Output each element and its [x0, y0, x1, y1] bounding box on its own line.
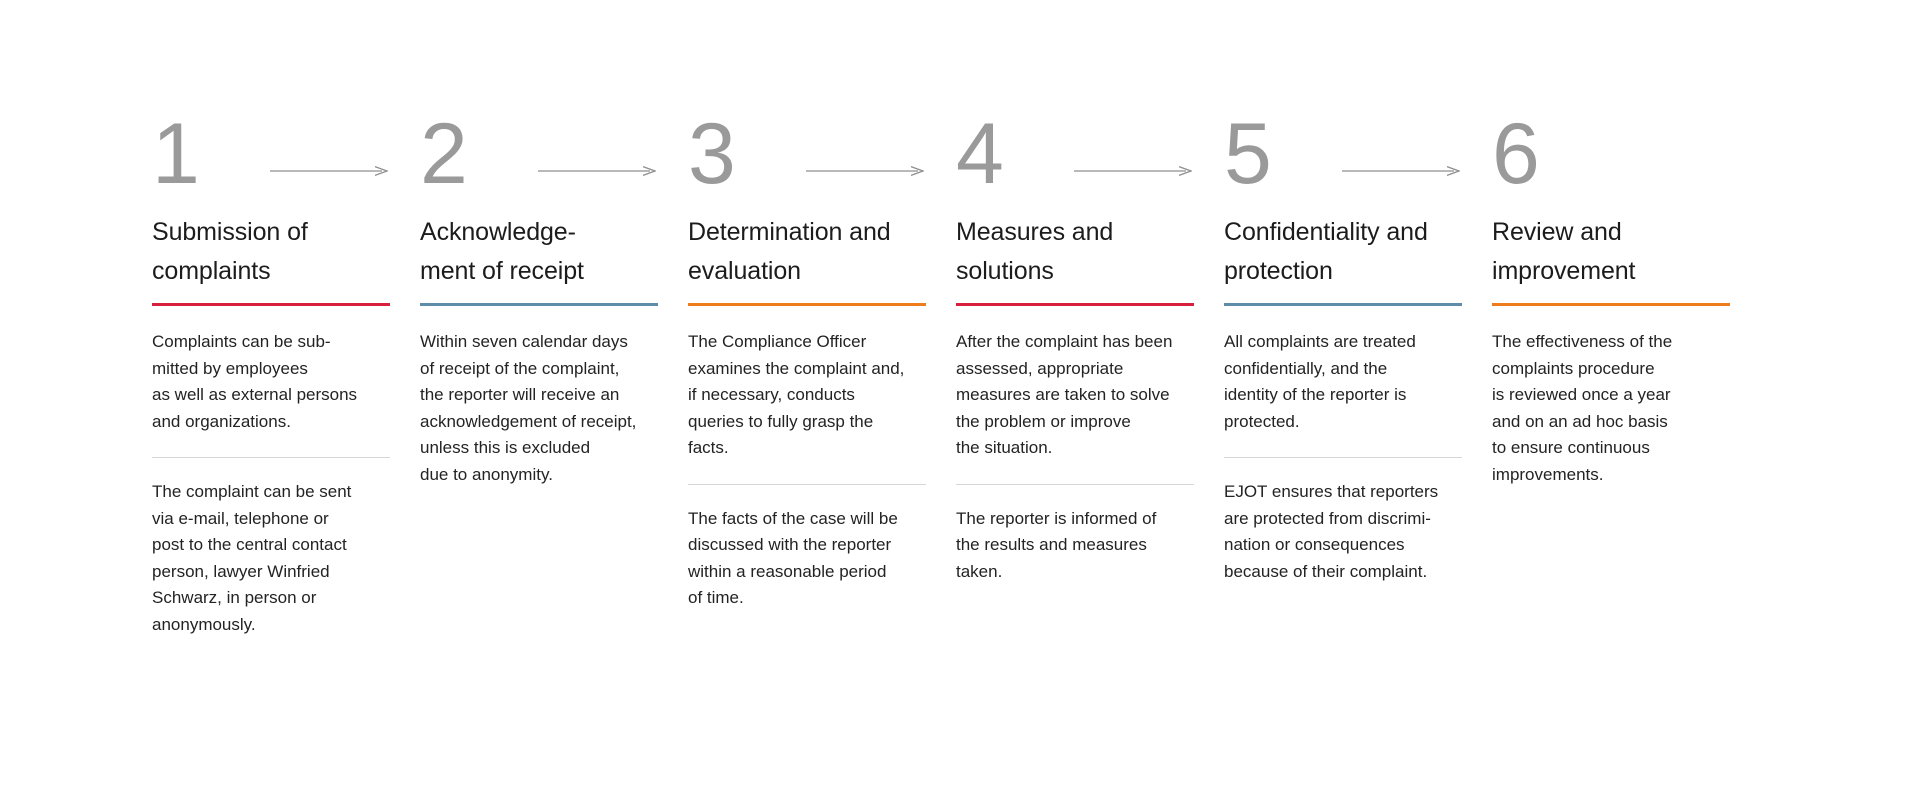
step-body: Complaints can be sub- mitted by employe…	[152, 329, 382, 638]
step-accent-rule-orange	[688, 303, 926, 306]
step-head: 3	[688, 95, 918, 195]
arrow-right-icon	[806, 165, 924, 177]
step-accent-rule-orange	[1492, 303, 1730, 306]
step-number: 5	[1224, 111, 1272, 197]
arrow-right-icon	[538, 165, 656, 177]
arrow-right-icon	[1074, 165, 1192, 177]
step-body: Within seven calendar days of receipt of…	[420, 329, 650, 488]
arrow-right-icon	[270, 165, 388, 177]
step-head: 6	[1492, 95, 1722, 195]
step-number: 1	[152, 111, 200, 197]
step-paragraph: The effectiveness of the complaints proc…	[1492, 329, 1722, 488]
step-title: Acknowledge- ment of receipt	[420, 213, 650, 291]
process-step-1: 1Submission of complaintsComplaints can …	[152, 95, 420, 638]
step-body: The Compliance Officer examines the comp…	[688, 329, 918, 612]
step-accent-rule-red	[956, 303, 1194, 306]
step-title: Measures and solutions	[956, 213, 1186, 291]
step-accent-rule-red	[152, 303, 390, 306]
step-number: 3	[688, 111, 736, 197]
step-head: 4	[956, 95, 1186, 195]
step-head: 2	[420, 95, 650, 195]
step-paragraph: EJOT ensures that reporters are protecte…	[1224, 479, 1454, 585]
process-step-2: 2Acknowledge- ment of receiptWithin seve…	[420, 95, 688, 488]
step-paragraph: The complaint can be sent via e-mail, te…	[152, 479, 382, 638]
process-step-6: 6Review and improvementThe effectiveness…	[1492, 95, 1760, 488]
step-accent-rule-blue	[420, 303, 658, 306]
step-paragraph: Complaints can be sub- mitted by employe…	[152, 329, 382, 435]
step-paragraph: All complaints are treated confidentiall…	[1224, 329, 1454, 435]
step-title: Submission of complaints	[152, 213, 382, 291]
process-step-4: 4Measures and solutionsAfter the complai…	[956, 95, 1224, 585]
step-title: Determination and evaluation	[688, 213, 918, 291]
process-step-5: 5Confidentiality and protectionAll compl…	[1224, 95, 1492, 585]
step-body: After the complaint has been assessed, a…	[956, 329, 1186, 585]
step-number: 2	[420, 111, 468, 197]
step-body: The effectiveness of the complaints proc…	[1492, 329, 1722, 488]
step-title: Review and improvement	[1492, 213, 1722, 291]
step-number: 6	[1492, 111, 1540, 197]
paragraph-divider	[152, 457, 390, 458]
step-head: 1	[152, 95, 382, 195]
paragraph-divider	[956, 484, 1194, 485]
process-step-3: 3Determination and evaluationThe Complia…	[688, 95, 956, 612]
step-paragraph: The Compliance Officer examines the comp…	[688, 329, 918, 462]
step-title: Confidentiality and protection	[1224, 213, 1454, 291]
step-paragraph: Within seven calendar days of receipt of…	[420, 329, 650, 488]
arrow-right-icon	[1342, 165, 1460, 177]
paragraph-divider	[1224, 457, 1462, 458]
step-accent-rule-blue	[1224, 303, 1462, 306]
process-steps-row: 1Submission of complaintsComplaints can …	[152, 95, 1920, 638]
process-diagram: 1Submission of complaintsComplaints can …	[0, 0, 1920, 800]
step-paragraph: The facts of the case will be discussed …	[688, 506, 918, 612]
step-body: All complaints are treated confidentiall…	[1224, 329, 1454, 585]
step-number: 4	[956, 111, 1004, 197]
step-paragraph: After the complaint has been assessed, a…	[956, 329, 1186, 462]
step-paragraph: The reporter is informed of the results …	[956, 506, 1186, 586]
step-head: 5	[1224, 95, 1454, 195]
paragraph-divider	[688, 484, 926, 485]
